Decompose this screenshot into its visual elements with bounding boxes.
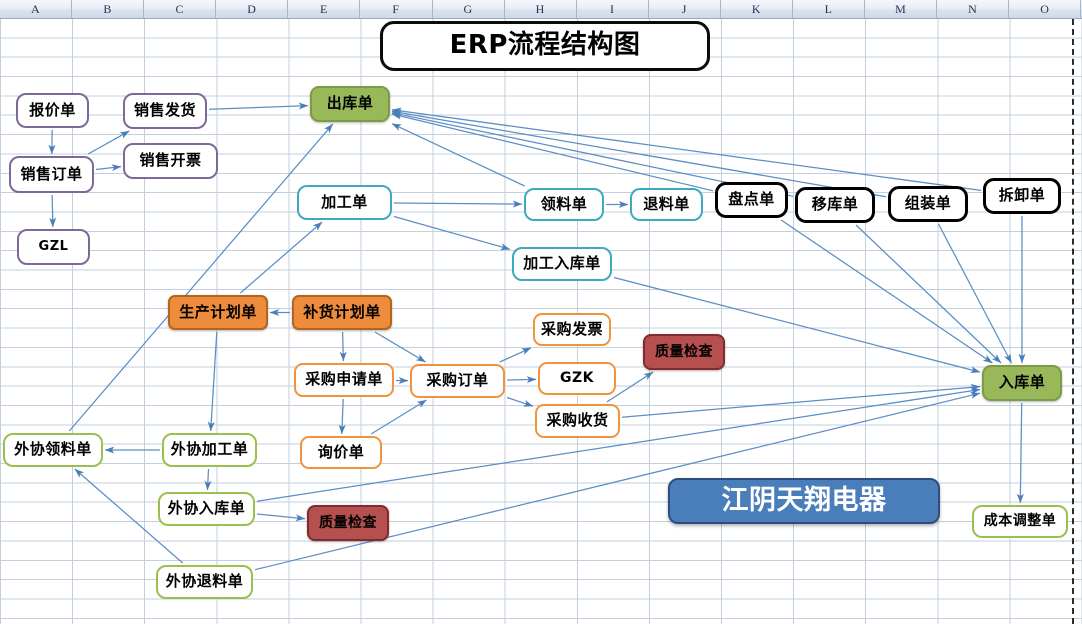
node-yikudan[interactable]: 移库单 xyxy=(795,187,875,223)
column-header-c[interactable]: C xyxy=(144,0,216,18)
node-chaixiedan[interactable]: 拆卸单 xyxy=(983,178,1061,214)
node-label: ERP流程结构图 xyxy=(450,32,641,59)
node-lingliaodan[interactable]: 领料单 xyxy=(524,188,604,221)
node-tuiliaodan[interactable]: 退料单 xyxy=(630,188,703,221)
node-label: 销售订单 xyxy=(20,167,82,183)
node-baojiadan[interactable]: 报价单 xyxy=(16,93,89,128)
node-label: 报价单 xyxy=(29,103,76,119)
node-label: 出库单 xyxy=(327,96,374,112)
node-label: 成本调整单 xyxy=(984,514,1057,529)
node-waixieruku[interactable]: 外协入库单 xyxy=(158,492,255,526)
node-caigoufapiao[interactable]: 采购发票 xyxy=(533,313,611,346)
node-buhuojihua[interactable]: 补货计划单 xyxy=(292,295,392,330)
node-caigoushouhuo[interactable]: 采购收货 xyxy=(535,404,620,438)
node-label: 采购发票 xyxy=(541,322,603,338)
node-title[interactable]: ERP流程结构图 xyxy=(380,21,710,71)
node-label: 销售发货 xyxy=(134,103,196,119)
node-jiagongruku[interactable]: 加工入库单 xyxy=(512,247,612,281)
node-label: 移库单 xyxy=(812,197,859,213)
node-company[interactable]: 江阴天翔电器 xyxy=(668,478,940,524)
node-xiaoshoudingdan[interactable]: 销售订单 xyxy=(9,156,94,193)
node-zuzhuangdan[interactable]: 组装单 xyxy=(888,186,968,222)
node-label: 拆卸单 xyxy=(999,188,1046,204)
node-label: 采购申请单 xyxy=(305,372,383,388)
column-header-m[interactable]: M xyxy=(865,0,937,18)
node-shengchanjihua[interactable]: 生产计划单 xyxy=(168,295,268,330)
node-pandiandan[interactable]: 盘点单 xyxy=(715,182,788,218)
node-rukudan[interactable]: 入库单 xyxy=(982,365,1062,401)
node-caigoushenqing[interactable]: 采购申请单 xyxy=(294,363,394,397)
node-zhiliangjiancha2[interactable]: 质量检查 xyxy=(307,505,389,541)
node-label: GZK xyxy=(560,371,594,386)
column-header-k[interactable]: K xyxy=(721,0,793,18)
node-label: 销售开票 xyxy=(139,153,201,169)
node-waixielingliao[interactable]: 外协领料单 xyxy=(3,433,103,467)
node-label: 质量检查 xyxy=(655,345,713,360)
node-xiaoshoufahuo[interactable]: 销售发货 xyxy=(123,93,207,129)
column-header-g[interactable]: G xyxy=(433,0,505,18)
node-label: 加工单 xyxy=(321,195,368,211)
node-label: 外协退料单 xyxy=(166,574,244,590)
node-label: 入库单 xyxy=(999,375,1046,391)
column-header-i[interactable]: I xyxy=(577,0,649,18)
node-label: 询价单 xyxy=(318,445,365,461)
node-gzl[interactable]: GZL xyxy=(17,229,90,265)
column-header-d[interactable]: D xyxy=(216,0,288,18)
column-header-a[interactable]: A xyxy=(0,0,72,18)
node-label: 采购收货 xyxy=(546,413,608,429)
node-label: 领料单 xyxy=(541,197,588,213)
column-header-j[interactable]: J xyxy=(649,0,721,18)
node-waixietuiliao[interactable]: 外协退料单 xyxy=(156,565,253,599)
node-gzk[interactable]: GZK xyxy=(538,362,616,395)
column-header-h[interactable]: H xyxy=(505,0,577,18)
node-waixiejiagong[interactable]: 外协加工单 xyxy=(162,433,257,467)
node-xiaoshoukaipiao[interactable]: 销售开票 xyxy=(123,143,218,179)
node-caigoudingdan[interactable]: 采购订单 xyxy=(410,364,505,398)
column-header-b[interactable]: B xyxy=(72,0,144,18)
spreadsheet-canvas: ABCDEFGHIJKLMNO ERP流程结构图报价单销售订单GZL销售发货销售… xyxy=(0,0,1082,624)
column-header-l[interactable]: L xyxy=(793,0,865,18)
node-label: 组装单 xyxy=(905,196,952,212)
node-label: 生产计划单 xyxy=(179,305,257,321)
node-label: 质量检查 xyxy=(319,516,377,531)
node-label: 补货计划单 xyxy=(303,305,381,321)
node-zhiliangjiancha1[interactable]: 质量检查 xyxy=(643,334,725,370)
node-label: 外协领料单 xyxy=(14,442,92,458)
column-header-n[interactable]: N xyxy=(937,0,1009,18)
node-label: 外协入库单 xyxy=(168,501,246,517)
column-header-bar: ABCDEFGHIJKLMNO xyxy=(0,0,1082,19)
column-header-e[interactable]: E xyxy=(288,0,360,18)
node-label: 江阴天翔电器 xyxy=(722,487,887,515)
node-chengbentiaozheng[interactable]: 成本调整单 xyxy=(972,505,1068,538)
node-label: 退料单 xyxy=(643,197,690,213)
column-header-f[interactable]: F xyxy=(360,0,432,18)
node-label: 盘点单 xyxy=(728,192,775,208)
node-label: 外协加工单 xyxy=(171,442,249,458)
node-xunjiadan[interactable]: 询价单 xyxy=(300,436,382,469)
column-header-o[interactable]: O xyxy=(1009,0,1081,18)
print-area-boundary xyxy=(1072,19,1074,624)
node-chukudan[interactable]: 出库单 xyxy=(310,86,390,122)
node-jiagongdan[interactable]: 加工单 xyxy=(297,185,392,220)
node-label: 加工入库单 xyxy=(523,256,601,272)
node-label: GZL xyxy=(39,240,69,254)
node-label: 采购订单 xyxy=(426,373,488,389)
